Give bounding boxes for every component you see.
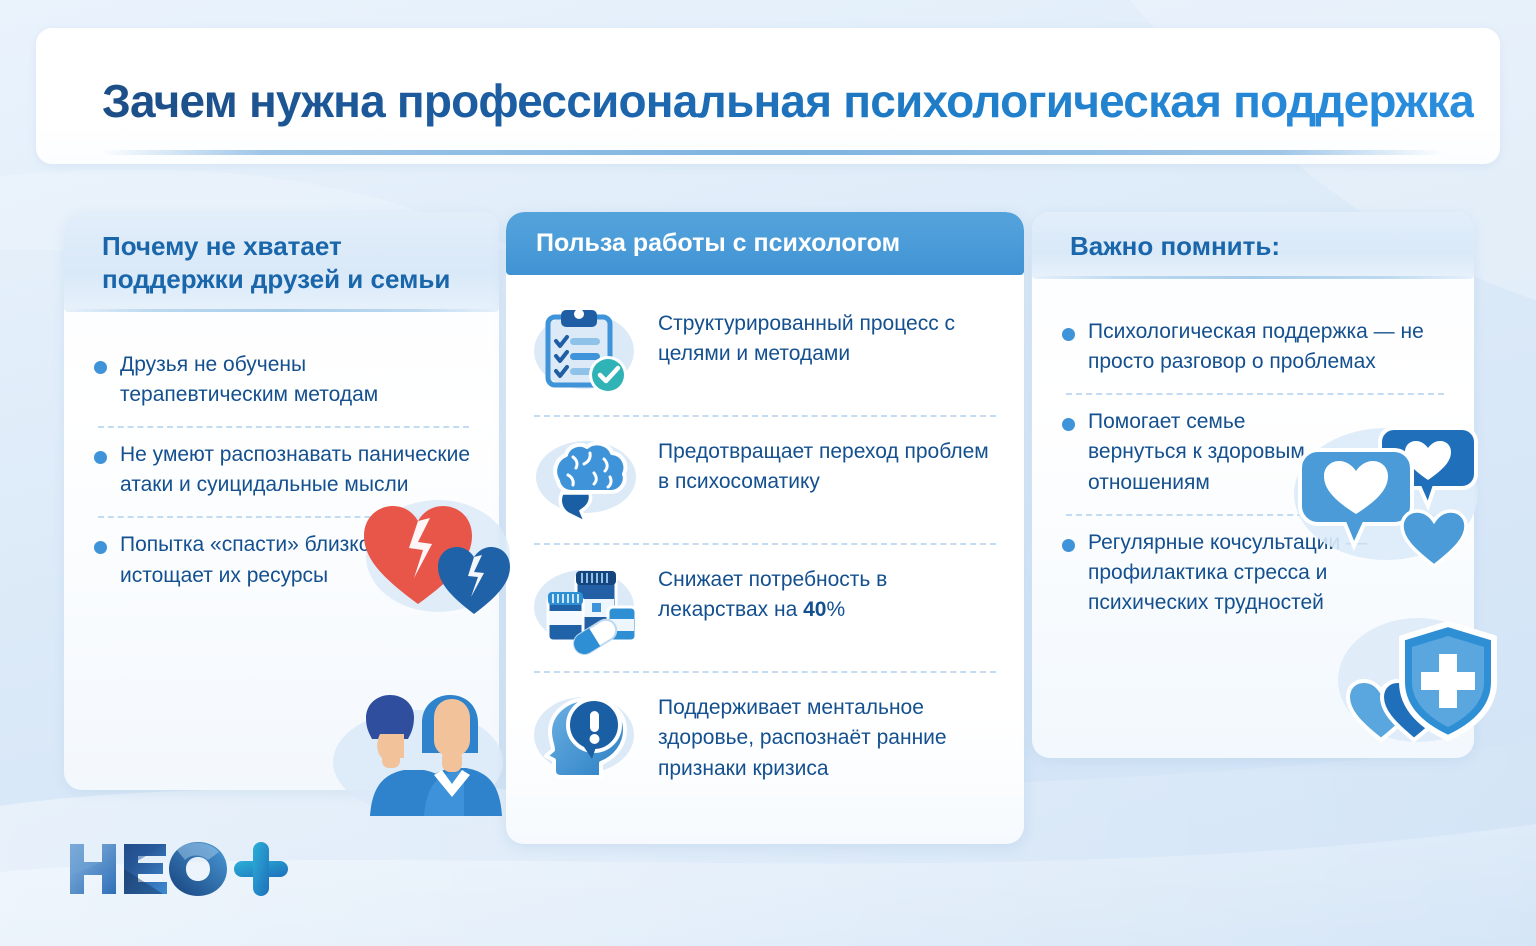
head-exclamation-icon [532,687,644,783]
list-item: Попытка «спасти» близкого истощает их ре… [94,518,473,606]
list-item: Структурированный процесс с целями и мет… [528,289,1002,415]
list-item-text: Предотвращает переход проблем в психосом… [658,431,1002,498]
list-item-text: Психологическая поддержка — не просто ра… [1088,317,1448,377]
brain-icon [532,431,644,527]
title-divider [102,150,1442,155]
list-item: Снижает потребность в лекарствах на 40% [528,545,1002,671]
bullet-list-left: Друзья не обучены терапевтическим метода… [64,312,499,607]
bullet-dot-icon [94,541,107,554]
list-item-text: Структурированный процесс с целями и мет… [658,303,1002,370]
card-benefits-psychologist: Польза работы с психологом [506,212,1024,844]
list-item: Поддерживает ментальное здоровье, распоз… [528,673,1002,801]
bullet-list-right: Психологическая поддержка — не просто ра… [1032,279,1474,635]
list-item-text: Не умеют распознавать панические атаки и… [120,440,473,500]
list-item: Помогает семье вернуться к здоровым отно… [1062,395,1448,514]
card-title-left-line2: поддержки друзей и семьи [102,264,450,294]
list-item: Друзья не обучены терапевтическим метода… [94,338,473,426]
logo-neo-plus [64,838,294,900]
list-item-text: Попытка «спасти» близкого истощает их ре… [120,530,473,590]
card-title-left-line1: Почему не хватает [102,231,342,261]
feature-text-after: % [826,598,845,621]
card-header-middle: Польза работы с психологом [506,212,1024,275]
bullet-dot-icon [94,451,107,464]
highlight-value: 40 [803,598,826,621]
list-item: Регулярные кочсультации — профилактика с… [1062,516,1448,635]
card-important-to-remember: Важно помнить: Психологическая поддержка… [1032,212,1474,758]
page-title: Зачем нужна профессиональная психологиче… [102,74,1474,128]
list-item-text: Снижает потребность в лекарствах на 40% [658,559,1002,626]
feature-text-before: Снижает потребность в лекарствах на [658,568,887,622]
header-card: Зачем нужна профессиональная психологиче… [36,28,1500,164]
card-title-middle: Польза работы с психологом [536,228,998,260]
list-item-text: Регулярные кочсультации — профилактика с… [1088,528,1388,619]
list-item: Психологическая поддержка — не просто ра… [1062,305,1448,393]
pill-bottles-icon [532,559,644,655]
bullet-dot-icon [1062,328,1075,341]
card-why-friends-family: Почему не хватает поддержки друзей и сем… [64,212,499,790]
feature-list-middle: Структурированный процесс с целями и мет… [506,275,1024,801]
list-item: Не умеют распознавать панические атаки и… [94,428,473,516]
card-header-right: Важно помнить: [1032,212,1474,279]
list-item-text: Поддерживает ментальное здоровье, распоз… [658,687,1002,785]
bullet-dot-icon [94,361,107,374]
card-title-left: Почему не хватает поддержки друзей и сем… [102,230,473,296]
list-item-text: Друзья не обучены терапевтическим метода… [120,350,473,410]
list-item-text: Помогает семье вернуться к здоровым отно… [1088,407,1338,498]
card-header-left: Почему не хватает поддержки друзей и сем… [64,212,499,312]
bullet-dot-icon [1062,418,1075,431]
card-title-right: Важно помнить: [1070,230,1448,263]
clipboard-checklist-icon [532,303,644,399]
bullet-dot-icon [1062,539,1075,552]
list-item: Предотвращает переход проблем в психосом… [528,417,1002,543]
